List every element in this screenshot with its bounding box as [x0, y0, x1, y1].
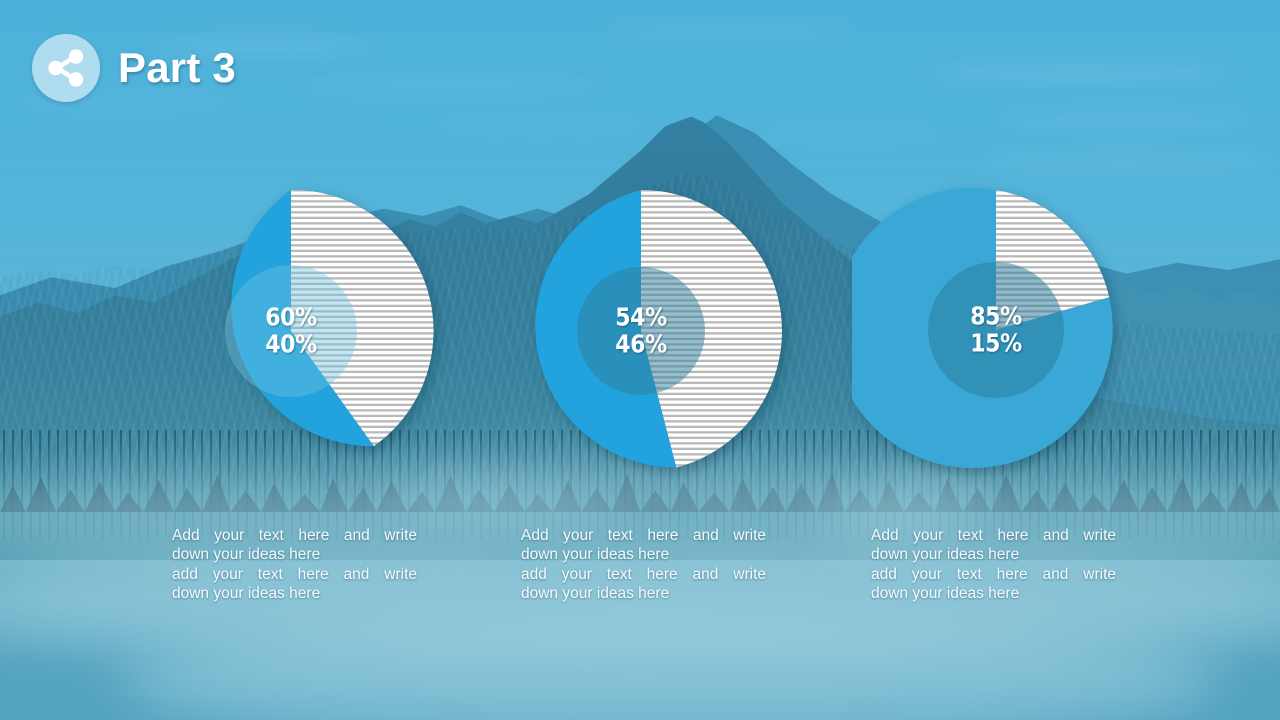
- donut-2-hole: [577, 267, 705, 395]
- caption-block-3[interactable]: Add your text here and write down your i…: [871, 526, 1116, 604]
- donut-2-graphic: 54% 46%: [496, 186, 786, 476]
- captions-row: Add your text here and write down your i…: [0, 526, 1280, 626]
- donut-3-graphic: 85% 15%: [852, 186, 1140, 474]
- page-title: Part 3: [118, 44, 236, 92]
- caption-1-line-1: Add your text here and write: [172, 526, 417, 545]
- caption-1-line-4: down your ideas here: [172, 584, 417, 603]
- slide-header: Part 3: [32, 34, 236, 102]
- caption-3-line-1: Add your text here and write: [871, 526, 1116, 545]
- caption-1-line-2: down your ideas here: [172, 545, 417, 564]
- share-icon: [43, 45, 89, 91]
- caption-2-line-3: add your text here and write: [521, 565, 766, 584]
- caption-2-line-2: down your ideas here: [521, 545, 766, 564]
- caption-2-line-4: down your ideas here: [521, 584, 766, 603]
- donut-chart-2[interactable]: 54% 46%: [496, 186, 786, 476]
- caption-block-2[interactable]: Add your text here and write down your i…: [521, 526, 766, 604]
- caption-block-1[interactable]: Add your text here and write down your i…: [172, 526, 417, 604]
- donut-3-hole: [928, 262, 1064, 398]
- caption-2-line-1: Add your text here and write: [521, 526, 766, 545]
- donut-1-graphic: 60% 40%: [146, 186, 436, 476]
- share-icon-badge[interactable]: [32, 34, 100, 102]
- caption-3-line-3: add your text here and write: [871, 565, 1116, 584]
- caption-3-line-4: down your ideas here: [871, 584, 1116, 603]
- caption-1-line-3: add your text here and write: [172, 565, 417, 584]
- donut-chart-1[interactable]: 60% 40%: [146, 186, 436, 476]
- donut-chart-3[interactable]: 85% 15%: [852, 186, 1140, 474]
- caption-3-line-2: down your ideas here: [871, 545, 1116, 564]
- slide-canvas: Part 3 60% 40%: [0, 0, 1280, 720]
- charts-row: 60% 40% 54% 46%: [0, 186, 1280, 506]
- donut-1-hole: [225, 265, 357, 397]
